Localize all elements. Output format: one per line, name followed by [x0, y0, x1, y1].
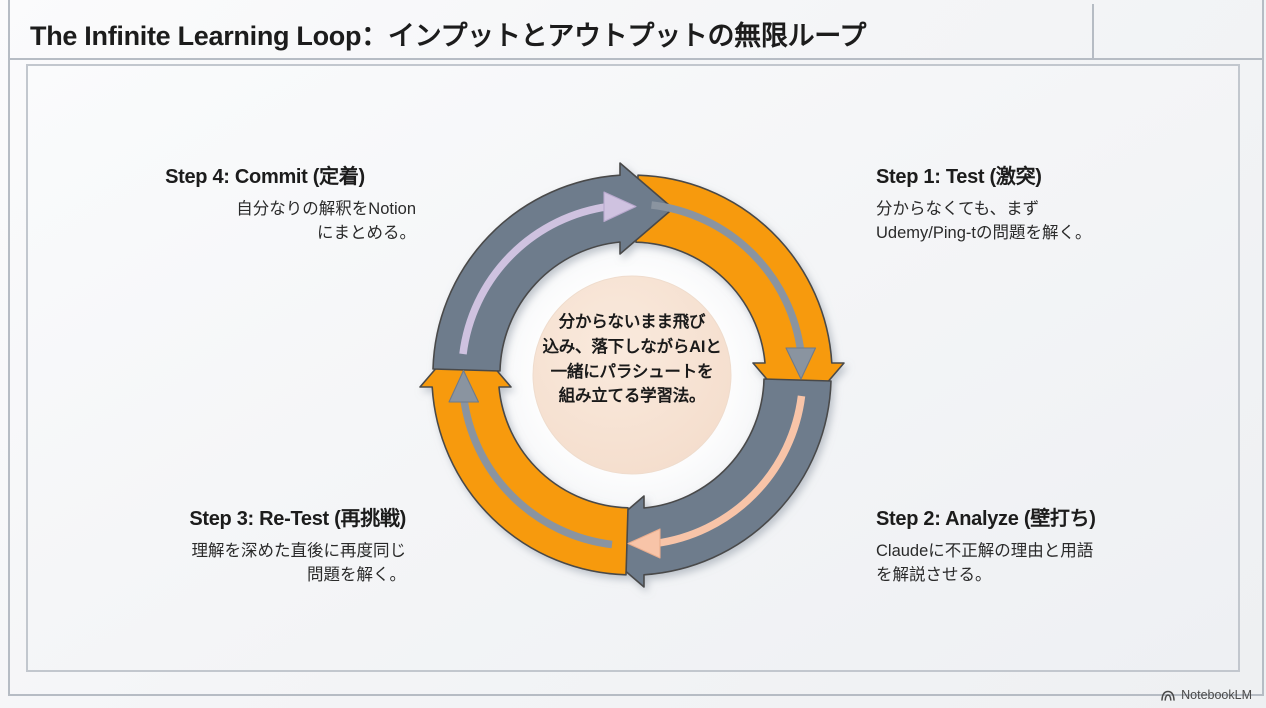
step-callout-3: Step 3: Re-Test (再挑戦) 理解を深めた直後に再度同じ 問題を解…: [96, 502, 406, 588]
step-4-description: 自分なりの解釈をNotion にまとめる。: [110, 198, 420, 246]
step-2-description: Claudeに不正解の理由と用語 を解説させる。: [876, 540, 1186, 588]
step-3-title: Step 3: Re-Test (再挑戦): [96, 502, 406, 531]
step-2-desc-line-1: Claudeに不正解の理由と用語: [876, 540, 1186, 564]
step-callout-4: Step 4: Commit (定着) 自分なりの解釈をNotion にまとめる…: [110, 160, 420, 246]
step-2-title: Step 2: Analyze (壁打ち): [876, 502, 1186, 531]
step-3-desc-line-2: 問題を解く。: [96, 564, 406, 588]
notebooklm-logo-icon: [1161, 689, 1176, 702]
step-callout-2: Step 2: Analyze (壁打ち) Claudeに不正解の理由と用語 を…: [876, 502, 1186, 588]
step-4-desc-line-1: 自分なりの解釈をNotion: [110, 198, 416, 222]
notebooklm-label: NotebookLM: [1181, 688, 1252, 702]
infinite-loop-diagram: [420, 163, 844, 587]
step-1-description: 分からなくても、まず Udemy/Ping-tの問題を解く。: [876, 198, 1186, 246]
step-4-title: Step 4: Commit (定着): [110, 160, 420, 189]
page-title: The Infinite Learning Loop：インプットとアウトプットの…: [30, 14, 866, 53]
step-3-description: 理解を深めた直後に再度同じ 問題を解く。: [96, 540, 406, 588]
step-1-desc-line-1: 分からなくても、まず: [876, 198, 1186, 222]
step-3-desc-line-1: 理解を深めた直後に再度同じ: [96, 540, 406, 564]
notebooklm-watermark: NotebookLM: [1161, 688, 1252, 702]
slide-canvas: The Infinite Learning Loop：インプットとアウトプットの…: [0, 0, 1266, 708]
center-circle: [533, 276, 731, 474]
step-1-title: Step 1: Test (激突): [876, 160, 1186, 189]
header-divider: [1092, 4, 1094, 60]
step-4-desc-line-2: にまとめる。: [110, 222, 416, 246]
step-callout-1: Step 1: Test (激突) 分からなくても、まず Udemy/Ping-…: [876, 160, 1186, 246]
step-2-desc-line-2: を解説させる。: [876, 564, 1186, 588]
step-1-desc-line-2: Udemy/Ping-tの問題を解く。: [876, 222, 1186, 246]
